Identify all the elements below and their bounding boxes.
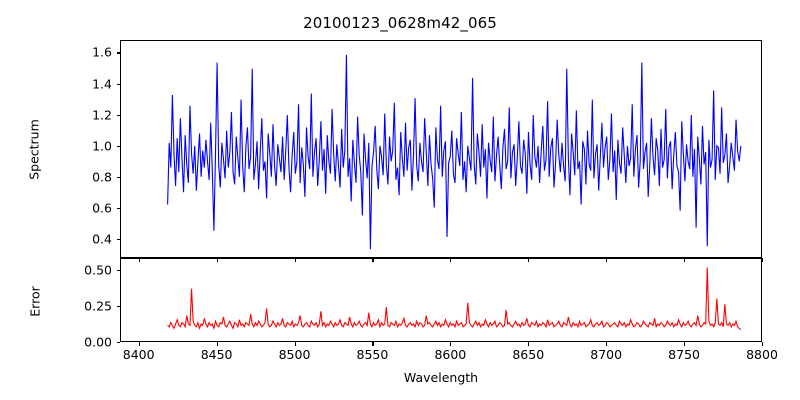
x-tick-mark — [684, 342, 685, 346]
y-tick-mark — [117, 177, 121, 178]
y-tick-mark — [117, 306, 121, 307]
x-tick-mark — [372, 342, 373, 346]
x-tick-label: 8700 — [590, 347, 622, 362]
x-tick-mark — [139, 342, 140, 346]
x-tick-label: 8500 — [279, 347, 311, 362]
x-tick-label: 8400 — [123, 347, 155, 362]
x-tick-mark — [762, 258, 763, 262]
x-tick-mark — [684, 258, 685, 262]
y-tick-mark — [117, 52, 121, 53]
y-tick-mark — [117, 84, 121, 85]
x-tick-label: 8450 — [201, 347, 233, 362]
x-tick-label: 8800 — [746, 347, 778, 362]
y-tick-mark — [117, 146, 121, 147]
x-tick-mark — [606, 342, 607, 346]
y-tick-label: 0.00 — [40, 335, 112, 350]
x-tick-label: 8550 — [357, 347, 389, 362]
x-tick-label: 8600 — [434, 347, 466, 362]
x-tick-mark — [528, 342, 529, 346]
error-panel — [120, 258, 762, 342]
y-tick-mark — [117, 342, 121, 343]
y-tick-label: 0.4 — [40, 232, 112, 247]
y-tick-label: 0.6 — [40, 201, 112, 216]
y-tick-label: 0.8 — [40, 170, 112, 185]
x-tick-label: 8750 — [668, 347, 700, 362]
x-axis-label: Wavelength — [120, 370, 762, 385]
x-tick-mark — [295, 342, 296, 346]
x-tick-mark — [372, 258, 373, 262]
x-tick-mark — [528, 258, 529, 262]
error-line-series — [121, 259, 761, 341]
y-tick-label: 1.6 — [40, 45, 112, 60]
x-tick-mark — [450, 258, 451, 262]
y-tick-label: 1.2 — [40, 107, 112, 122]
x-tick-mark — [606, 258, 607, 262]
y-tick-label: 1.0 — [40, 138, 112, 153]
x-tick-mark — [450, 342, 451, 346]
x-tick-mark — [217, 342, 218, 346]
chart-title: 20100123_0628m42_065 — [0, 14, 800, 32]
x-tick-mark — [295, 258, 296, 262]
y-tick-label: 0.25 — [40, 298, 112, 313]
x-tick-mark — [139, 258, 140, 262]
y-tick-label: 1.4 — [40, 76, 112, 91]
y-tick-mark — [117, 270, 121, 271]
y-tick-label: 0.50 — [40, 262, 112, 277]
y-tick-mark — [117, 239, 121, 240]
x-tick-mark — [217, 258, 218, 262]
x-tick-label: 8650 — [512, 347, 544, 362]
y-tick-mark — [117, 115, 121, 116]
x-tick-mark — [762, 342, 763, 346]
spectrum-panel — [120, 40, 762, 258]
matplotlib-figure: 20100123_0628m42_065 Spectrum Error 0.40… — [0, 0, 800, 400]
spectrum-line-series — [121, 41, 761, 257]
y-tick-mark — [117, 208, 121, 209]
